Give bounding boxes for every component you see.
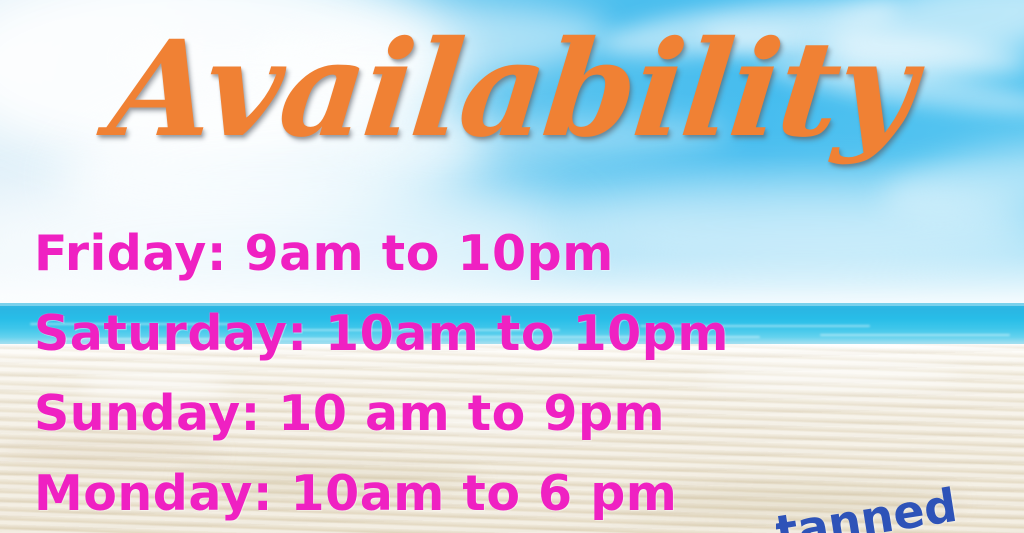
availability-poster: Availability Friday: 9am to 10pm Saturda… [0, 0, 1024, 533]
schedule-list: Friday: 9am to 10pm Saturday: 10am to 10… [34, 214, 974, 533]
schedule-line-saturday: Saturday: 10am to 10pm [34, 294, 974, 374]
poster-title: Availability [0, 24, 1024, 156]
schedule-line-sunday: Sunday: 10 am to 9pm [34, 374, 974, 454]
schedule-line-monday: Monday: 10am to 6 pm [34, 454, 974, 533]
schedule-line-friday: Friday: 9am to 10pm [34, 214, 974, 294]
